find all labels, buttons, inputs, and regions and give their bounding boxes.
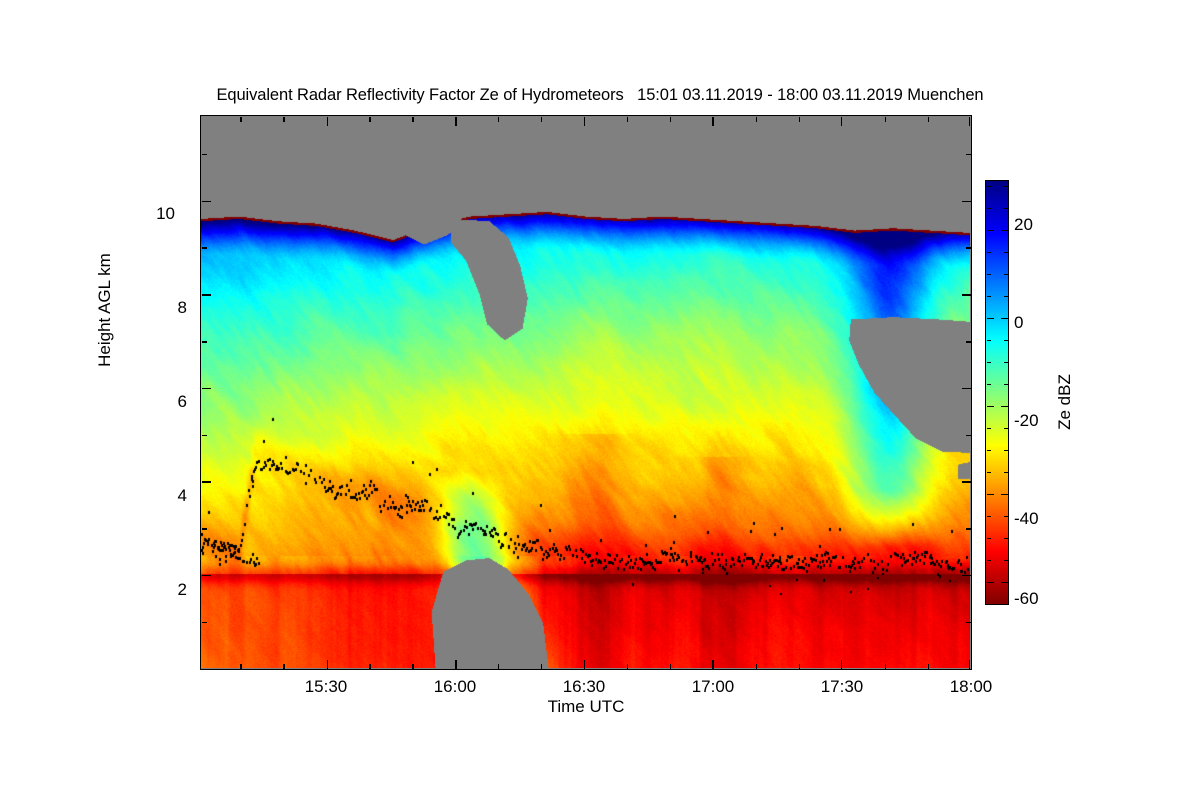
axis-tick — [627, 117, 629, 122]
axis-tick — [962, 388, 971, 390]
axis-tick — [756, 664, 758, 669]
x-tick-label: 16:30 — [539, 678, 629, 695]
colorbar-tick-label: 20 — [1014, 216, 1033, 233]
axis-tick — [369, 664, 371, 669]
colorbar-tick — [1001, 406, 1008, 408]
colorbar-tick — [987, 560, 991, 562]
x-tick-label: 15:30 — [281, 678, 371, 695]
colorbar-tick — [987, 186, 991, 188]
colorbar-tick — [987, 428, 991, 430]
colorbar-tick-label: -60 — [1014, 590, 1039, 607]
x-tick-label: 18:00 — [926, 678, 1016, 695]
y-tick-label: 6 — [145, 393, 187, 410]
axis-tick — [962, 575, 971, 577]
axis-tick — [966, 622, 971, 624]
colorbar-tick — [987, 516, 991, 518]
axis-tick — [202, 388, 211, 390]
axis-tick — [412, 664, 414, 669]
colorbar-tick — [987, 450, 991, 452]
axis-tick — [885, 664, 887, 669]
x-tick-label: 16:00 — [410, 678, 500, 695]
axis-tick — [712, 117, 714, 126]
colorbar-tick — [987, 296, 991, 298]
axis-tick — [498, 117, 500, 122]
colorbar-tick — [987, 494, 994, 496]
colorbar — [985, 180, 1009, 605]
colorbar-tick — [1004, 560, 1008, 562]
y-tick-label: 8 — [145, 299, 187, 316]
axis-tick — [584, 660, 586, 669]
axis-tick — [202, 341, 207, 343]
colorbar-tick — [1004, 516, 1008, 518]
x-tick-label: 17:30 — [797, 678, 887, 695]
axis-tick — [885, 117, 887, 122]
colorbar-gradient — [986, 181, 1008, 604]
colorbar-tick — [1004, 186, 1008, 188]
axis-tick — [202, 201, 211, 203]
axis-tick — [202, 294, 211, 296]
colorbar-tick — [1001, 230, 1008, 232]
radar-heatmap-canvas — [201, 116, 970, 668]
colorbar-tick — [987, 208, 991, 210]
axis-tick — [202, 154, 207, 156]
axis-tick — [799, 117, 801, 122]
axis-tick — [202, 247, 207, 249]
axis-tick — [966, 669, 971, 671]
axis-tick — [327, 117, 329, 126]
radar-plot-area — [200, 115, 972, 670]
axis-tick — [202, 481, 211, 483]
y-axis-title: Height AGL km — [95, 180, 115, 440]
axis-tick — [670, 117, 672, 122]
x-tick-label: 17:00 — [668, 678, 758, 695]
colorbar-tick — [987, 340, 991, 342]
colorbar-tick-label: 0 — [1014, 314, 1023, 331]
colorbar-tick — [987, 538, 991, 540]
colorbar-tick — [1004, 472, 1008, 474]
axis-tick — [966, 247, 971, 249]
axis-tick — [202, 528, 207, 530]
axis-tick — [969, 117, 971, 126]
y-tick-label: 10 — [133, 205, 175, 222]
page-title: Equivalent Radar Reflectivity Factor Ze … — [0, 86, 1200, 105]
axis-tick — [541, 117, 543, 122]
colorbar-tick — [1004, 296, 1008, 298]
colorbar-tick — [1001, 582, 1008, 584]
axis-tick — [962, 481, 971, 483]
colorbar-tick — [1004, 384, 1008, 386]
axis-tick — [670, 664, 672, 669]
axis-tick — [969, 660, 971, 669]
colorbar-tick — [1001, 318, 1008, 320]
colorbar-tick — [987, 384, 991, 386]
axis-tick — [412, 117, 414, 122]
colorbar-tick — [1004, 538, 1008, 540]
axis-tick — [799, 664, 801, 669]
axis-tick — [756, 117, 758, 122]
axis-tick — [541, 664, 543, 669]
axis-tick — [202, 622, 207, 624]
colorbar-tick — [987, 318, 994, 320]
axis-tick — [455, 117, 457, 126]
colorbar-tick-label: -40 — [1014, 510, 1039, 527]
axis-tick — [283, 117, 285, 122]
colorbar-title: Ze dBZ — [1055, 322, 1075, 482]
colorbar-tick — [1004, 252, 1008, 254]
colorbar-tick — [987, 472, 991, 474]
axis-tick — [966, 341, 971, 343]
colorbar-tick — [987, 252, 991, 254]
colorbar-tick — [1004, 208, 1008, 210]
axis-tick — [202, 575, 211, 577]
axis-tick — [369, 117, 371, 122]
colorbar-tick — [1004, 362, 1008, 364]
y-tick-label: 2 — [145, 581, 187, 598]
axis-tick — [712, 660, 714, 669]
axis-tick — [202, 435, 207, 437]
axis-tick — [455, 660, 457, 669]
axis-tick — [202, 669, 207, 671]
axis-tick — [327, 660, 329, 669]
axis-tick — [962, 201, 971, 203]
colorbar-tick — [987, 274, 991, 276]
axis-tick — [240, 664, 242, 669]
colorbar-tick — [987, 362, 991, 364]
axis-tick — [962, 294, 971, 296]
axis-tick — [841, 660, 843, 669]
colorbar-tick — [1004, 340, 1008, 342]
colorbar-tick — [987, 582, 994, 584]
colorbar-tick — [987, 406, 994, 408]
axis-tick — [928, 664, 930, 669]
colorbar-tick — [1001, 494, 1008, 496]
colorbar-tick — [1004, 274, 1008, 276]
axis-tick — [498, 664, 500, 669]
colorbar-tick-label: -20 — [1014, 412, 1039, 429]
colorbar-tick — [1004, 450, 1008, 452]
axis-tick — [966, 528, 971, 530]
axis-tick — [627, 664, 629, 669]
axis-tick — [841, 117, 843, 126]
colorbar-tick — [1004, 428, 1008, 430]
axis-tick — [928, 117, 930, 122]
axis-tick — [584, 117, 586, 126]
y-tick-label: 4 — [145, 487, 187, 504]
axis-tick — [966, 435, 971, 437]
axis-tick — [240, 117, 242, 122]
colorbar-tick — [987, 230, 994, 232]
x-axis-title: Time UTC — [200, 697, 972, 717]
axis-tick — [283, 664, 285, 669]
axis-tick — [966, 154, 971, 156]
